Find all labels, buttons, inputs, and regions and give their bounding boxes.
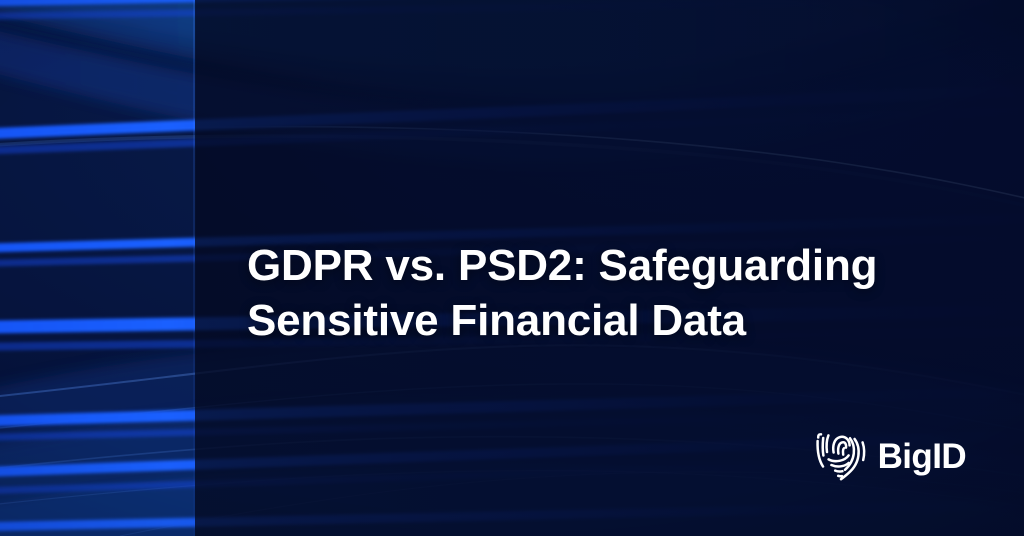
bigid-logo[interactable]: BigID [815, 428, 966, 484]
bigid-wordmark: BigID [878, 439, 966, 474]
banner-headline: GDPR vs. PSD2: Safeguarding Sensitive Fi… [247, 239, 987, 348]
banner-root: GDPR vs. PSD2: Safeguarding Sensitive Fi… [0, 0, 1024, 536]
shield-fingerprint-icon [815, 428, 867, 484]
